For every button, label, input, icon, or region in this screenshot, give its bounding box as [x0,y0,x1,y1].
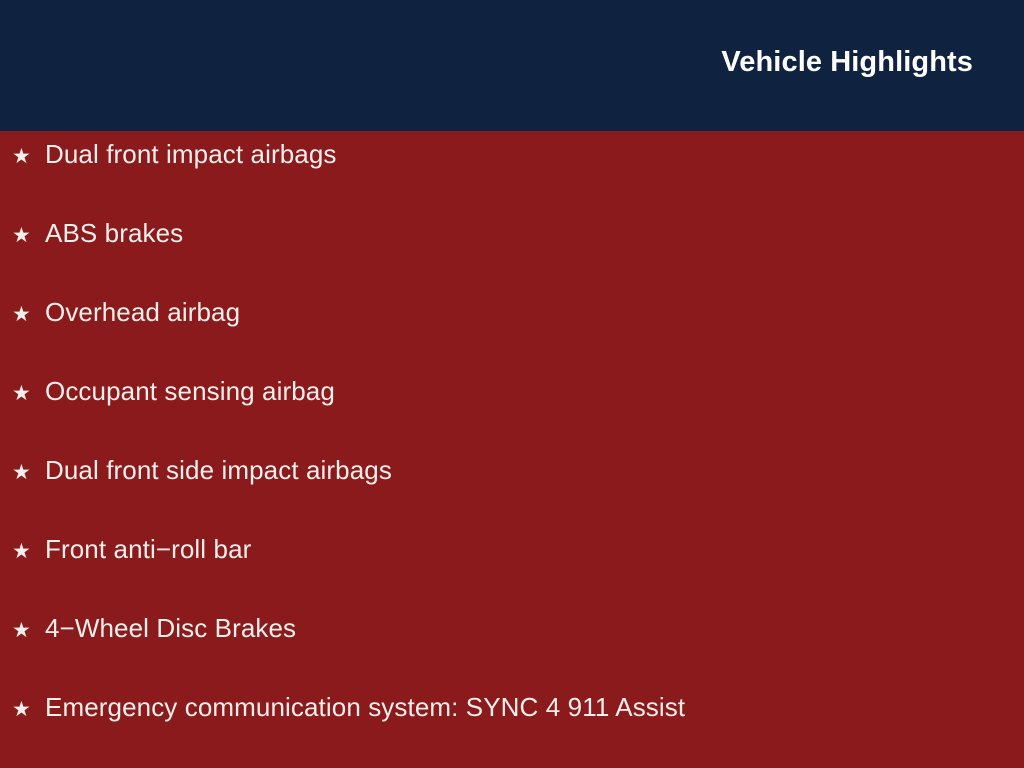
list-item: ★Occupant sensing airbag [0,378,1024,457]
header-band: Vehicle Highlights [0,0,1024,131]
highlight-label: Dual front impact airbags [45,141,1024,167]
highlight-label: Dual front side impact airbags [45,457,1024,483]
highlight-label: Emergency communication system: SYNC 4 9… [45,694,1024,720]
highlight-label: Occupant sensing airbag [45,378,1024,404]
star-icon: ★ [12,225,45,246]
highlights-list: ★Dual front impact airbags★ABS brakes★Ov… [0,141,1024,768]
list-item: ★Front anti−roll bar [0,536,1024,615]
star-icon: ★ [12,462,45,483]
star-icon: ★ [12,541,45,562]
highlight-label: 4−Wheel Disc Brakes [45,615,1024,641]
list-item: ★Dual front impact airbags [0,141,1024,220]
star-icon: ★ [12,383,45,404]
list-item: ★Overhead airbag [0,299,1024,378]
list-item: ★ABS brakes [0,220,1024,299]
highlight-label: Overhead airbag [45,299,1024,325]
list-item: ★Emergency communication system: SYNC 4 … [0,694,1024,768]
highlight-label: ABS brakes [45,220,1024,246]
star-icon: ★ [12,620,45,641]
highlights-body: ★Dual front impact airbags★ABS brakes★Ov… [0,131,1024,768]
vehicle-highlights-slide: Vehicle Highlights ★Dual front impact ai… [0,0,1024,768]
list-item: ★4−Wheel Disc Brakes [0,615,1024,694]
list-item: ★Dual front side impact airbags [0,457,1024,536]
page-title: Vehicle Highlights [721,48,973,77]
star-icon: ★ [12,146,45,167]
highlight-label: Front anti−roll bar [45,536,1024,562]
star-icon: ★ [12,699,45,720]
star-icon: ★ [12,304,45,325]
